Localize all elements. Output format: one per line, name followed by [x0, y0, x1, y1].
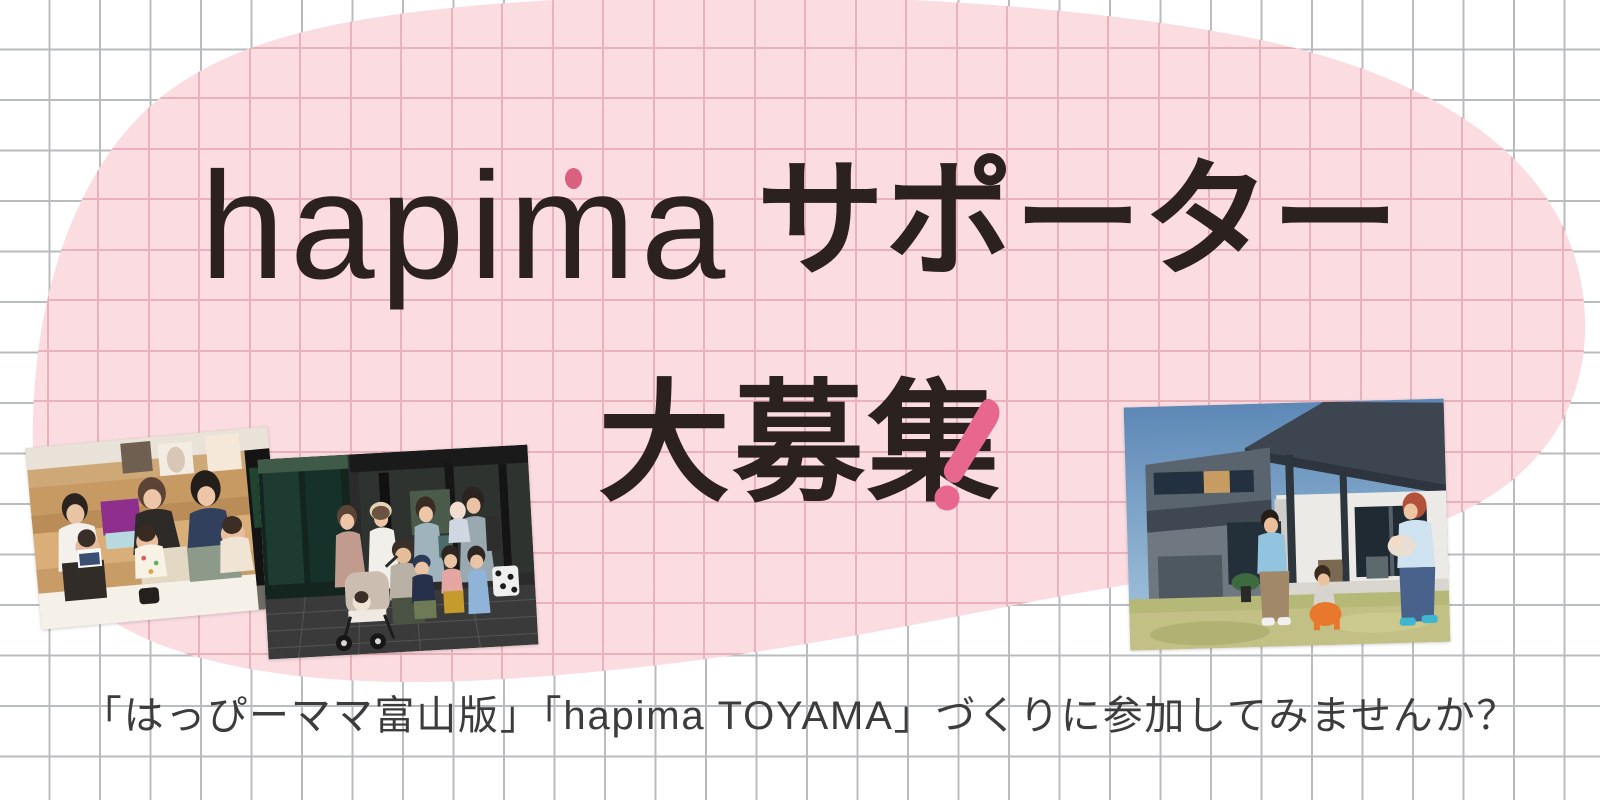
photo-group-image — [258, 445, 539, 660]
exclamation-mark-icon — [930, 392, 1010, 512]
poster-canvas: hapima サポーター 大募集 — [0, 0, 1600, 800]
caption-text: 「はっぴーママ富山版」「hapima TOYAMA」づくりに参加してみませんか？ — [0, 694, 1600, 738]
photo-group — [258, 445, 539, 660]
supporter-label: サポーター — [757, 157, 1400, 285]
photo-house — [1124, 399, 1451, 651]
photo-house-image — [1124, 399, 1451, 651]
photo-lounge — [25, 426, 283, 629]
hapima-logo-text: hapima — [200, 150, 730, 302]
photo-lounge-image — [25, 426, 283, 629]
headline-line-1: hapima サポーター — [0, 150, 1600, 302]
hapima-logo-label: hapima — [200, 141, 730, 311]
